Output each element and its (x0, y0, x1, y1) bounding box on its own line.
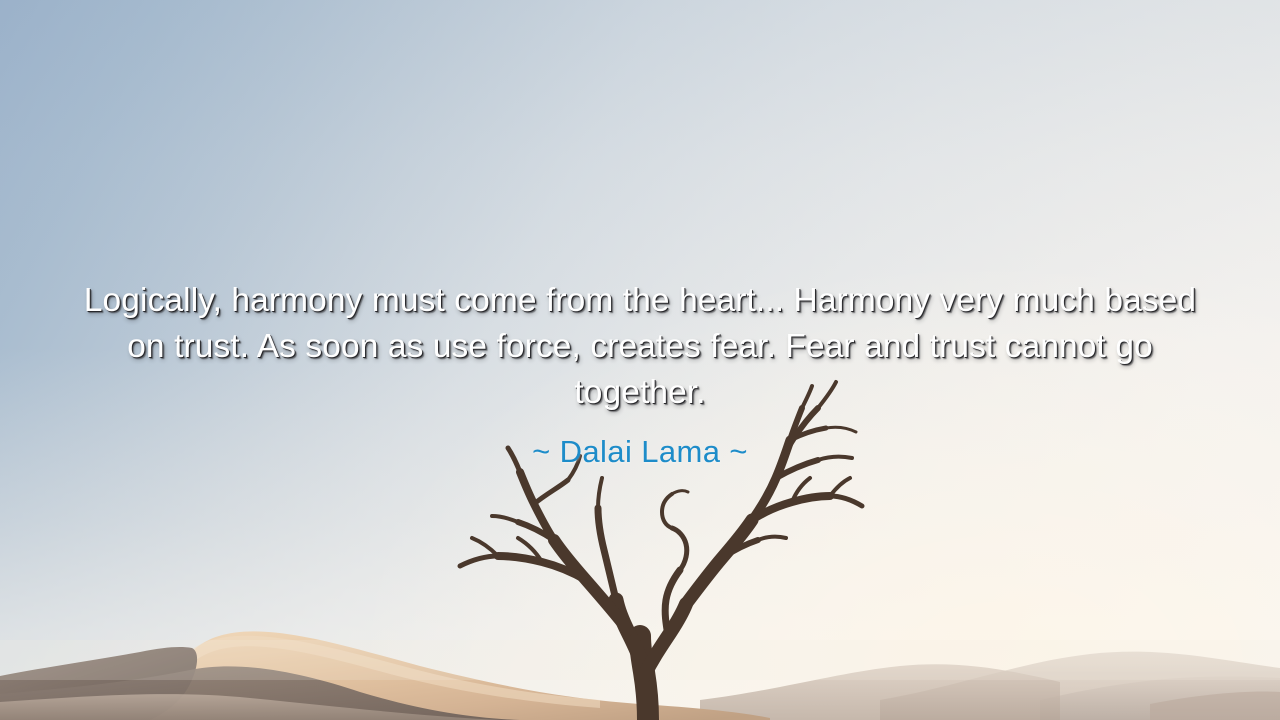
quote-text: Logically, harmony must come from the he… (75, 278, 1205, 416)
quote-block: Logically, harmony must come from the he… (75, 278, 1205, 472)
text-overlay: Logically, harmony must come from the he… (0, 0, 1280, 720)
quote-author: ~ Dalai Lama ~ (75, 416, 1205, 472)
quote-wallpaper: Logically, harmony must come from the he… (0, 0, 1280, 720)
